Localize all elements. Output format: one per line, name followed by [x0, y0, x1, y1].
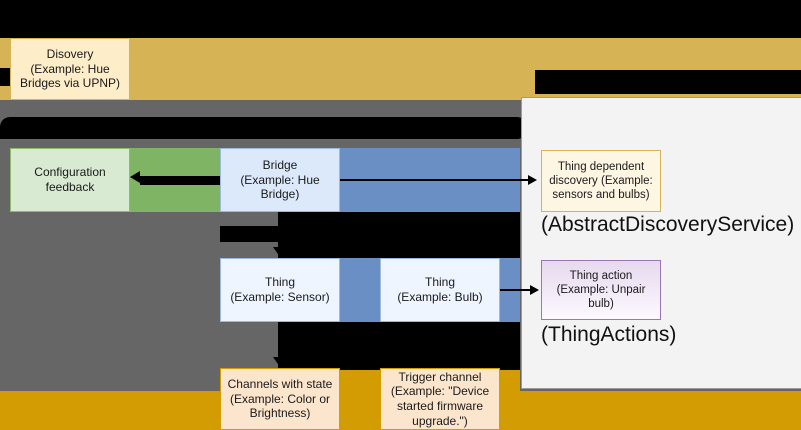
- box-thing-sensor-line-1: Thing: [265, 275, 295, 289]
- box-thing-sensor: Thing (Example: Sensor): [220, 258, 340, 322]
- box-thing-dependent-discovery: Thing dependent discovery (Example: sens…: [541, 150, 661, 212]
- box-config-line-2: feedback: [46, 180, 95, 194]
- redaction-bar-config-tail: [0, 129, 175, 139]
- redaction-bar-mid-upper: [278, 212, 520, 258]
- arrow-thing-to-action-head: [530, 285, 539, 295]
- box-discovery: Disovery (Example: Hue Bridges via UPNP): [10, 38, 130, 100]
- box-trigger-line-1: Trigger channel: [399, 370, 482, 384]
- left-black-strip: [0, 68, 10, 86]
- box-trigger-line-2: (Example: "Device: [391, 384, 489, 398]
- box-config-line-1: Configuration: [34, 165, 105, 179]
- box-thing-action: Thing action (Example: Unpair bulb): [541, 260, 661, 320]
- box-thingdisc-line-1: Thing dependent: [558, 161, 644, 173]
- box-bridge-line-2: (Example: Hue: [240, 173, 319, 187]
- box-bridge-line-3: Bridge): [261, 187, 300, 201]
- box-thingdisc-line-2: discovery (Example:: [549, 175, 653, 187]
- box-thing-sensor-line-2: (Example: Sensor): [230, 290, 329, 304]
- top-redaction-band: [0, 0, 801, 38]
- diagram-canvas: Disovery (Example: Hue Bridges via UPNP)…: [0, 0, 801, 430]
- caption-thing-actions: (ThingActions): [541, 323, 676, 347]
- box-channels-line-2: (Example: Color or: [230, 392, 330, 406]
- arrow-bridge-to-discovery-head: [528, 175, 537, 185]
- box-thing-bulb-line-2: (Example: Bulb): [397, 290, 482, 304]
- box-discovery-line-2: (Example: Hue: [30, 62, 109, 76]
- box-thingaction-line-3: bulb): [588, 298, 614, 310]
- arrow-config-feedback-line: [140, 176, 220, 185]
- redaction-bar-mid-upper-left: [220, 226, 280, 242]
- box-bridge-line-1: Bridge: [263, 158, 298, 172]
- box-discovery-line-1: Disovery: [47, 47, 94, 61]
- box-discovery-line-3: Bridges via UPNP): [20, 76, 120, 90]
- box-thing-bulb-line-1: Thing: [425, 275, 455, 289]
- arrow-config-feedback-head: [130, 171, 140, 183]
- arrowhead-down-sensor: [273, 247, 287, 257]
- caption-abstract-discovery-service: (AbstractDiscoveryService): [541, 213, 794, 237]
- arrowhead-down-channels: [273, 357, 287, 367]
- arrow-bridge-to-discovery-line: [340, 179, 530, 181]
- box-configuration-feedback: Configuration feedback: [10, 148, 130, 212]
- arrow-thing-to-action-line: [500, 289, 532, 291]
- box-thingaction-line-1: Thing action: [570, 270, 633, 282]
- box-thing-bulb: Thing (Example: Bulb): [380, 258, 500, 322]
- box-trigger-channel: Trigger channel (Example: "Device starte…: [380, 368, 500, 430]
- box-trigger-line-4: upgrade."): [412, 414, 468, 428]
- box-channels-line-3: Brightness): [250, 406, 311, 420]
- box-channels-line-1: Channels with state: [228, 377, 333, 391]
- redaction-bar-thing-title-tail: [537, 86, 591, 94]
- box-bridge: Bridge (Example: Hue Bridge): [220, 148, 340, 212]
- box-channels-with-state: Channels with state (Example: Color or B…: [220, 368, 340, 430]
- box-thingaction-line-2: (Example: Unpair: [557, 284, 646, 296]
- box-trigger-line-3: started firmware: [397, 399, 483, 413]
- box-thingdisc-line-3: sensors and bulbs): [552, 189, 649, 201]
